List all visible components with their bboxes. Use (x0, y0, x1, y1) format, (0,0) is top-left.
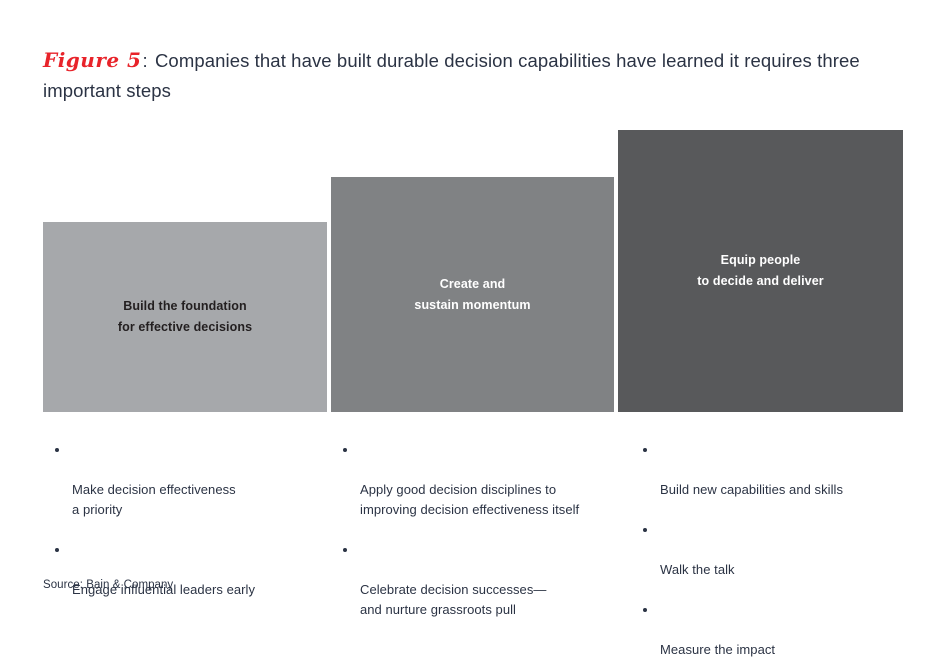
bar-label-step-2: Create and sustain momentum (414, 274, 530, 316)
bullet-list-step-2: Apply good decision disciplines to impro… (338, 440, 623, 620)
bullet-dot-icon (643, 448, 647, 452)
bullet-dot-icon (343, 548, 347, 552)
bar-step-1[interactable]: Build the foundation for effective decis… (43, 222, 327, 412)
bar-step-3[interactable]: Equip people to decide and deliver (618, 130, 903, 412)
bullet-list-step-1: Make decision effectiveness a priority E… (50, 440, 330, 600)
figure-number: Figure 5 (43, 48, 142, 72)
list-item: Measure the impact (638, 600, 918, 660)
list-item: Celebrate decision successes— and nurtur… (338, 540, 623, 620)
list-item: Walk the talk (638, 520, 918, 580)
bullet-dot-icon (643, 528, 647, 532)
list-item: Make decision effectiveness a priority (50, 440, 330, 520)
list-item-text: Make decision effectiveness a priority (72, 482, 236, 517)
bullet-dot-icon (643, 608, 647, 612)
bullet-list-step-3: Build new capabilities and skills Walk t… (638, 440, 918, 660)
bullet-dot-icon (343, 448, 347, 452)
list-item: Apply good decision disciplines to impro… (338, 440, 623, 520)
list-item-text: Celebrate decision successes— and nurtur… (360, 582, 546, 617)
list-item-text: Apply good decision disciplines to impro… (360, 482, 579, 517)
page-title: Figure 5: Companies that have built dura… (43, 45, 913, 106)
bar-step-2[interactable]: Create and sustain momentum (331, 177, 614, 412)
bullet-dot-icon (55, 548, 59, 552)
bar-label-step-3: Equip people to decide and deliver (697, 250, 823, 292)
figure-title-text: Companies that have built durable decisi… (43, 50, 860, 101)
figure-colon: : (142, 50, 149, 71)
source-note: Source: Bain & Company (43, 577, 173, 593)
list-item-text: Build new capabilities and skills (660, 482, 843, 497)
list-item-text: Walk the talk (660, 562, 735, 577)
bullet-dot-icon (55, 448, 59, 452)
bar-label-step-1: Build the foundation for effective decis… (118, 296, 252, 338)
list-item-text: Measure the impact (660, 642, 775, 657)
list-item: Build new capabilities and skills (638, 440, 918, 500)
